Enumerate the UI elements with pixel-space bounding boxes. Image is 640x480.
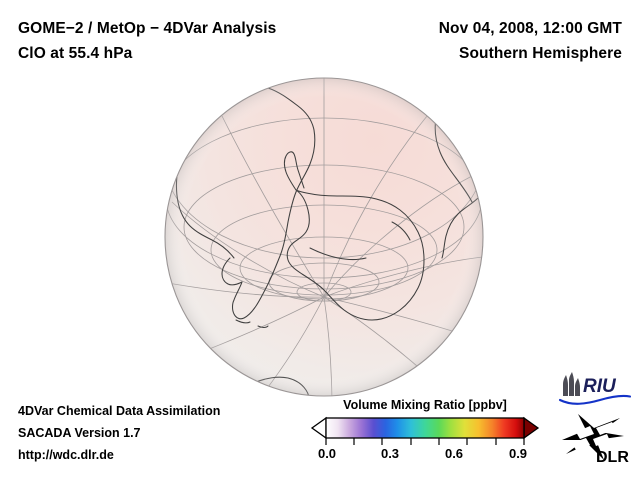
header-right-block: Nov 04, 2008, 12:00 GMT Southern Hemisph… [322, 16, 622, 66]
colorbar-tick-3: 0.9 [509, 446, 527, 461]
colorbar-tick-2: 0.6 [445, 446, 463, 461]
orthographic-globe [0, 70, 640, 410]
dlr-logo-text: DLR [596, 449, 629, 466]
colorbar-tick-1: 0.3 [381, 446, 399, 461]
dlr-logo-graphic: DLR [560, 412, 632, 466]
riu-bars-icon [563, 372, 580, 396]
timestamp-label: Nov 04, 2008, 12:00 GMT [322, 16, 622, 41]
riu-logo: RIU [556, 372, 632, 411]
riu-logo-text: RIU [583, 376, 617, 397]
colorbar-title: Volume Mixing Ratio [ppbv] [305, 398, 545, 412]
colorbar-under-arrow [312, 418, 326, 438]
riu-swoosh-icon [560, 396, 630, 404]
footer-line-url: http://wdc.dlr.de [18, 444, 308, 466]
colorbar-tick-0: 0.0 [318, 446, 336, 461]
colorbar: Volume Mixing Ratio [ppbv] [305, 398, 545, 474]
footer-left-block: 4DVar Chemical Data Assimilation SACADA … [18, 400, 308, 466]
colorbar-scale[interactable] [305, 416, 545, 446]
colorbar-ticks [326, 438, 524, 445]
globe-map-panel [0, 70, 640, 410]
colorbar-tick-labels: 0.0 0.3 0.6 0.9 [305, 446, 545, 466]
colorbar-gradient-bar [326, 418, 524, 438]
colorbar-over-arrow [524, 418, 538, 438]
footer-line-version: SACADA Version 1.7 [18, 422, 308, 444]
region-label: Southern Hemisphere [322, 41, 622, 66]
riu-logo-graphic: RIU [556, 372, 632, 406]
globe-limb-shading [165, 78, 483, 396]
footer-line-assimilation: 4DVar Chemical Data Assimilation [18, 400, 308, 422]
dlr-logo: DLR [560, 412, 632, 471]
